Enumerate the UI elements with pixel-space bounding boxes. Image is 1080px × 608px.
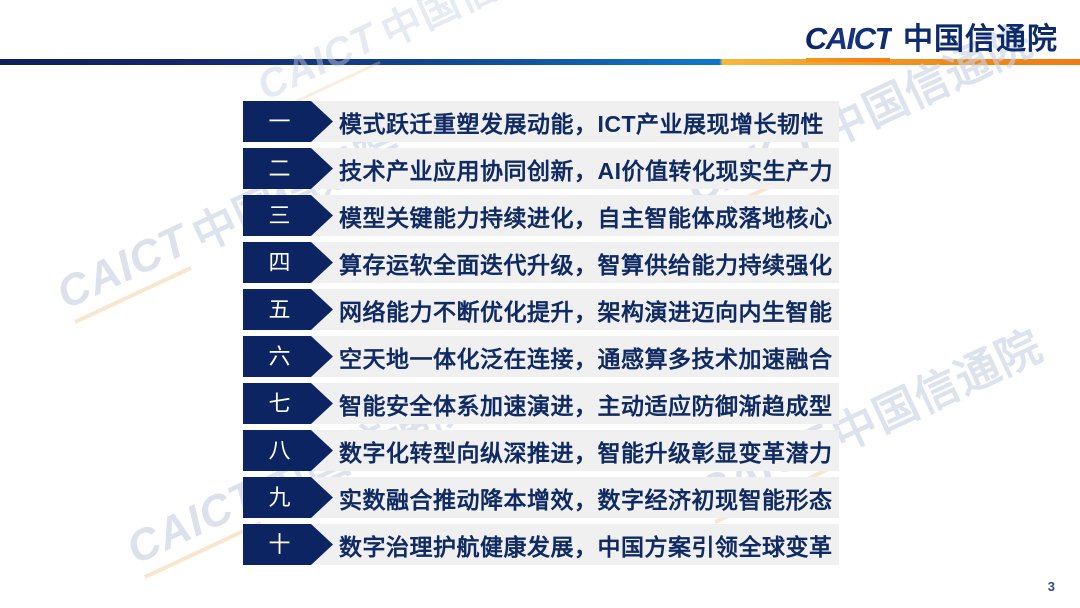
agenda-item-title: 技术产业应用协同创新，AI价值转化现实生产力 bbox=[333, 148, 839, 189]
agenda-number-label: 二 bbox=[268, 158, 307, 180]
agenda-number-label: 九 bbox=[268, 487, 307, 509]
agenda-item-title: 空天地一体化泛在连接，通感算多技术加速融合 bbox=[333, 336, 839, 377]
agenda-number-label: 三 bbox=[268, 205, 307, 227]
agenda-number-label: 七 bbox=[268, 393, 307, 415]
agenda-item-title: 智能安全体系加速演进，主动适应防御渐趋成型 bbox=[333, 383, 839, 424]
agenda-row[interactable]: 一 模式跃迁重塑发展动能，ICT产业展现增长韧性 bbox=[243, 101, 839, 142]
agenda-item-title: 网络能力不断优化提升，架构演进迈向内生智能 bbox=[333, 289, 839, 330]
agenda-item-title: 算存运软全面迭代升级，智算供给能力持续强化 bbox=[333, 242, 839, 283]
agenda-item-title: 模式跃迁重塑发展动能，ICT产业展现增长韧性 bbox=[333, 101, 839, 142]
agenda-row[interactable]: 五 网络能力不断优化提升，架构演进迈向内生智能 bbox=[243, 289, 839, 330]
page-number: 3 bbox=[1048, 579, 1055, 594]
agenda-number-label: 八 bbox=[268, 440, 307, 462]
agenda-row[interactable]: 九 实数融合推动降本增效，数字经济初现智能形态 bbox=[243, 477, 839, 518]
agenda-item-title: 实数融合推动降本增效，数字经济初现智能形态 bbox=[333, 477, 839, 518]
caict-wordmark: CAICT bbox=[805, 21, 892, 59]
agenda-item-title: 数字化转型向纵深推进，智能升级彰显变革潜力 bbox=[333, 430, 839, 471]
watermark-cn-text: 中国信通院 bbox=[820, 311, 1051, 464]
agenda-number-label: 四 bbox=[268, 252, 307, 274]
agenda-row[interactable]: 四 算存运软全面迭代升级，智算供给能力持续强化 bbox=[243, 242, 839, 283]
slide-header: CAICT 中国信通院 bbox=[0, 0, 1080, 60]
agenda-number-label: 六 bbox=[268, 346, 307, 368]
agenda-number-label: 十 bbox=[268, 534, 307, 556]
slide-canvas: CAICT 中国信通院 CAICT 中国信通院 CAICT 中国信通院 CAIC… bbox=[0, 0, 1080, 608]
agenda-row[interactable]: 七 智能安全体系加速演进，主动适应防御渐趋成型 bbox=[243, 383, 839, 424]
agenda-row[interactable]: 八 数字化转型向纵深推进，智能升级彰显变革潜力 bbox=[243, 430, 839, 471]
agenda-number-label: 一 bbox=[268, 111, 307, 133]
agenda-row[interactable]: 三 模型关键能力持续进化，自主智能体成落地核心 bbox=[243, 195, 839, 236]
agenda-item-title: 数字治理护航健康发展，中国方案引领全球变革 bbox=[333, 524, 839, 565]
watermark-caict-text: CAICT bbox=[49, 215, 197, 319]
caict-chinese-name: 中国信通院 bbox=[903, 14, 1058, 58]
agenda-row[interactable]: 十 数字治理护航健康发展，中国方案引领全球变革 bbox=[243, 524, 839, 565]
agenda-list: 一 模式跃迁重塑发展动能，ICT产业展现增长韧性 二 技术产业应用协同创新，AI… bbox=[243, 101, 839, 565]
agenda-number-label: 五 bbox=[268, 299, 307, 321]
agenda-row[interactable]: 二 技术产业应用协同创新，AI价值转化现实生产力 bbox=[243, 148, 839, 189]
agenda-item-title: 模型关键能力持续进化，自主智能体成落地核心 bbox=[333, 195, 839, 236]
agenda-row[interactable]: 六 空天地一体化泛在连接，通感算多技术加速融合 bbox=[243, 336, 839, 377]
caict-logo: CAICT 中国信通院 bbox=[805, 14, 1058, 59]
